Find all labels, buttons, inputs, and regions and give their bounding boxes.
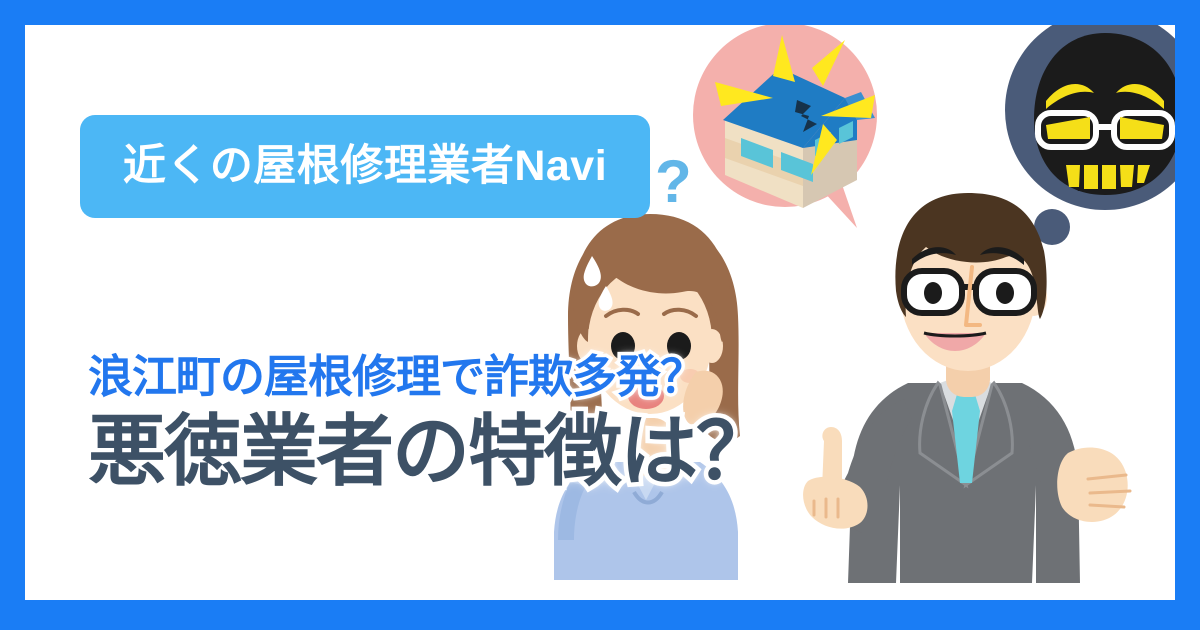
worried-woman-illustration xyxy=(530,200,790,600)
open-palm-hand xyxy=(1057,447,1130,522)
site-badge-label: 近くの屋根修理業者Navi xyxy=(123,145,607,188)
question-mark-decoration: ? xyxy=(655,152,692,212)
banner-frame: 近くの屋根修理業者Navi ? 浪江町の屋根修理で詐欺多発？ 悪徳業者の特徴は？ xyxy=(0,0,1200,630)
site-badge[interactable]: 近くの屋根修理業者Navi xyxy=(80,115,650,218)
advisor-businessman-illustration xyxy=(800,185,1140,600)
man-suit xyxy=(826,377,1092,583)
woman-clothing xyxy=(554,462,738,580)
banner-canvas: 近くの屋根修理業者Navi ? 浪江町の屋根修理で詐欺多発？ 悪徳業者の特徴は？ xyxy=(25,25,1175,600)
scammer-face-icon xyxy=(1034,33,1175,195)
